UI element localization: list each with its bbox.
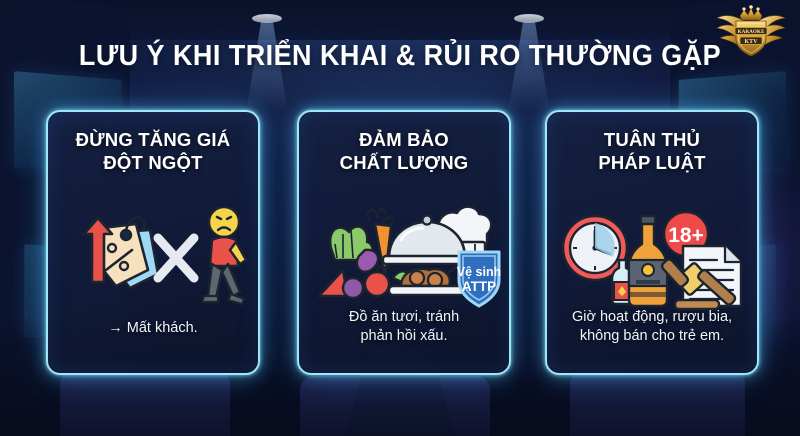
legal-compliance-illustration: 18+ (557, 200, 747, 312)
white-cross-icon (158, 238, 194, 278)
card-caption-line1: Giờ hoạt động, rượu bia, (557, 308, 747, 328)
card-caption-line1: Đồ ăn tươi, tránh (309, 308, 499, 328)
logo-text-ktv: KTV (744, 39, 758, 45)
card-title: ĐẢM BẢO CHẤT LƯỢNG (307, 128, 501, 175)
card-title-line1: ĐẢM BẢO (307, 128, 501, 151)
card-title-line2: ĐỘT NGỘT (56, 151, 250, 174)
card-caption: Giờ hoạt động, rượu bia, không bán cho t… (557, 308, 747, 347)
card-title-line2: PHÁP LUẬT (555, 151, 749, 174)
price-increase-lost-customer-illustration (58, 200, 248, 312)
food-quality-hygiene-illustration: Vệ sinh ATTP (309, 200, 499, 312)
card-title: ĐỪNG TĂNG GIÁ ĐỘT NGỘT (56, 128, 250, 175)
card-title-line1: ĐỪNG TĂNG GIÁ (56, 128, 250, 151)
card-caption-line2: không bán cho trẻ em. (557, 327, 747, 347)
card-dung-tang-gia-dot-ngot[interactable]: ĐỪNG TĂNG GIÁ ĐỘT NGỘT (46, 110, 260, 375)
page-title: LƯU Ý KHI TRIỂN KHAI & RỦI RO THƯỜNG GẶP (28, 40, 772, 73)
card-caption: → Mất khách. (58, 319, 248, 339)
hygiene-shield-badge: Vệ sinh ATTP (457, 252, 501, 306)
card-title: TUÂN THỦ PHÁP LUẬT (555, 128, 749, 175)
sad-person-walking-away-icon (202, 207, 246, 304)
logo-text-karaoke: KARAOKE (738, 29, 765, 35)
age-badge-label: 18+ (668, 224, 704, 247)
card-title-line2: CHẤT LƯỢNG (307, 151, 501, 174)
karaoke-ktv-crest-logo: KARAOKE KTV (714, 3, 788, 61)
liquor-bottle-icon (629, 216, 667, 306)
card-title-line1: TUÂN THỦ (555, 128, 749, 151)
shield-label-line1: Vệ sinh (457, 265, 501, 279)
card-caption-line2: phản hồi xấu. (309, 327, 499, 347)
card-caption: Đồ ăn tươi, tránh phản hồi xấu. (309, 308, 499, 347)
page-header: LƯU Ý KHI TRIỂN KHAI & RỦI RO THƯỜNG GẶP (0, 0, 800, 100)
card-tuan-thu-phap-luat[interactable]: TUÂN THỦ PHÁP LUẬT (545, 110, 759, 375)
shield-label-line2: ATTP (462, 279, 496, 294)
card-dam-bao-chat-luong[interactable]: ĐẢM BẢO CHẤT LƯỢNG (297, 110, 511, 375)
